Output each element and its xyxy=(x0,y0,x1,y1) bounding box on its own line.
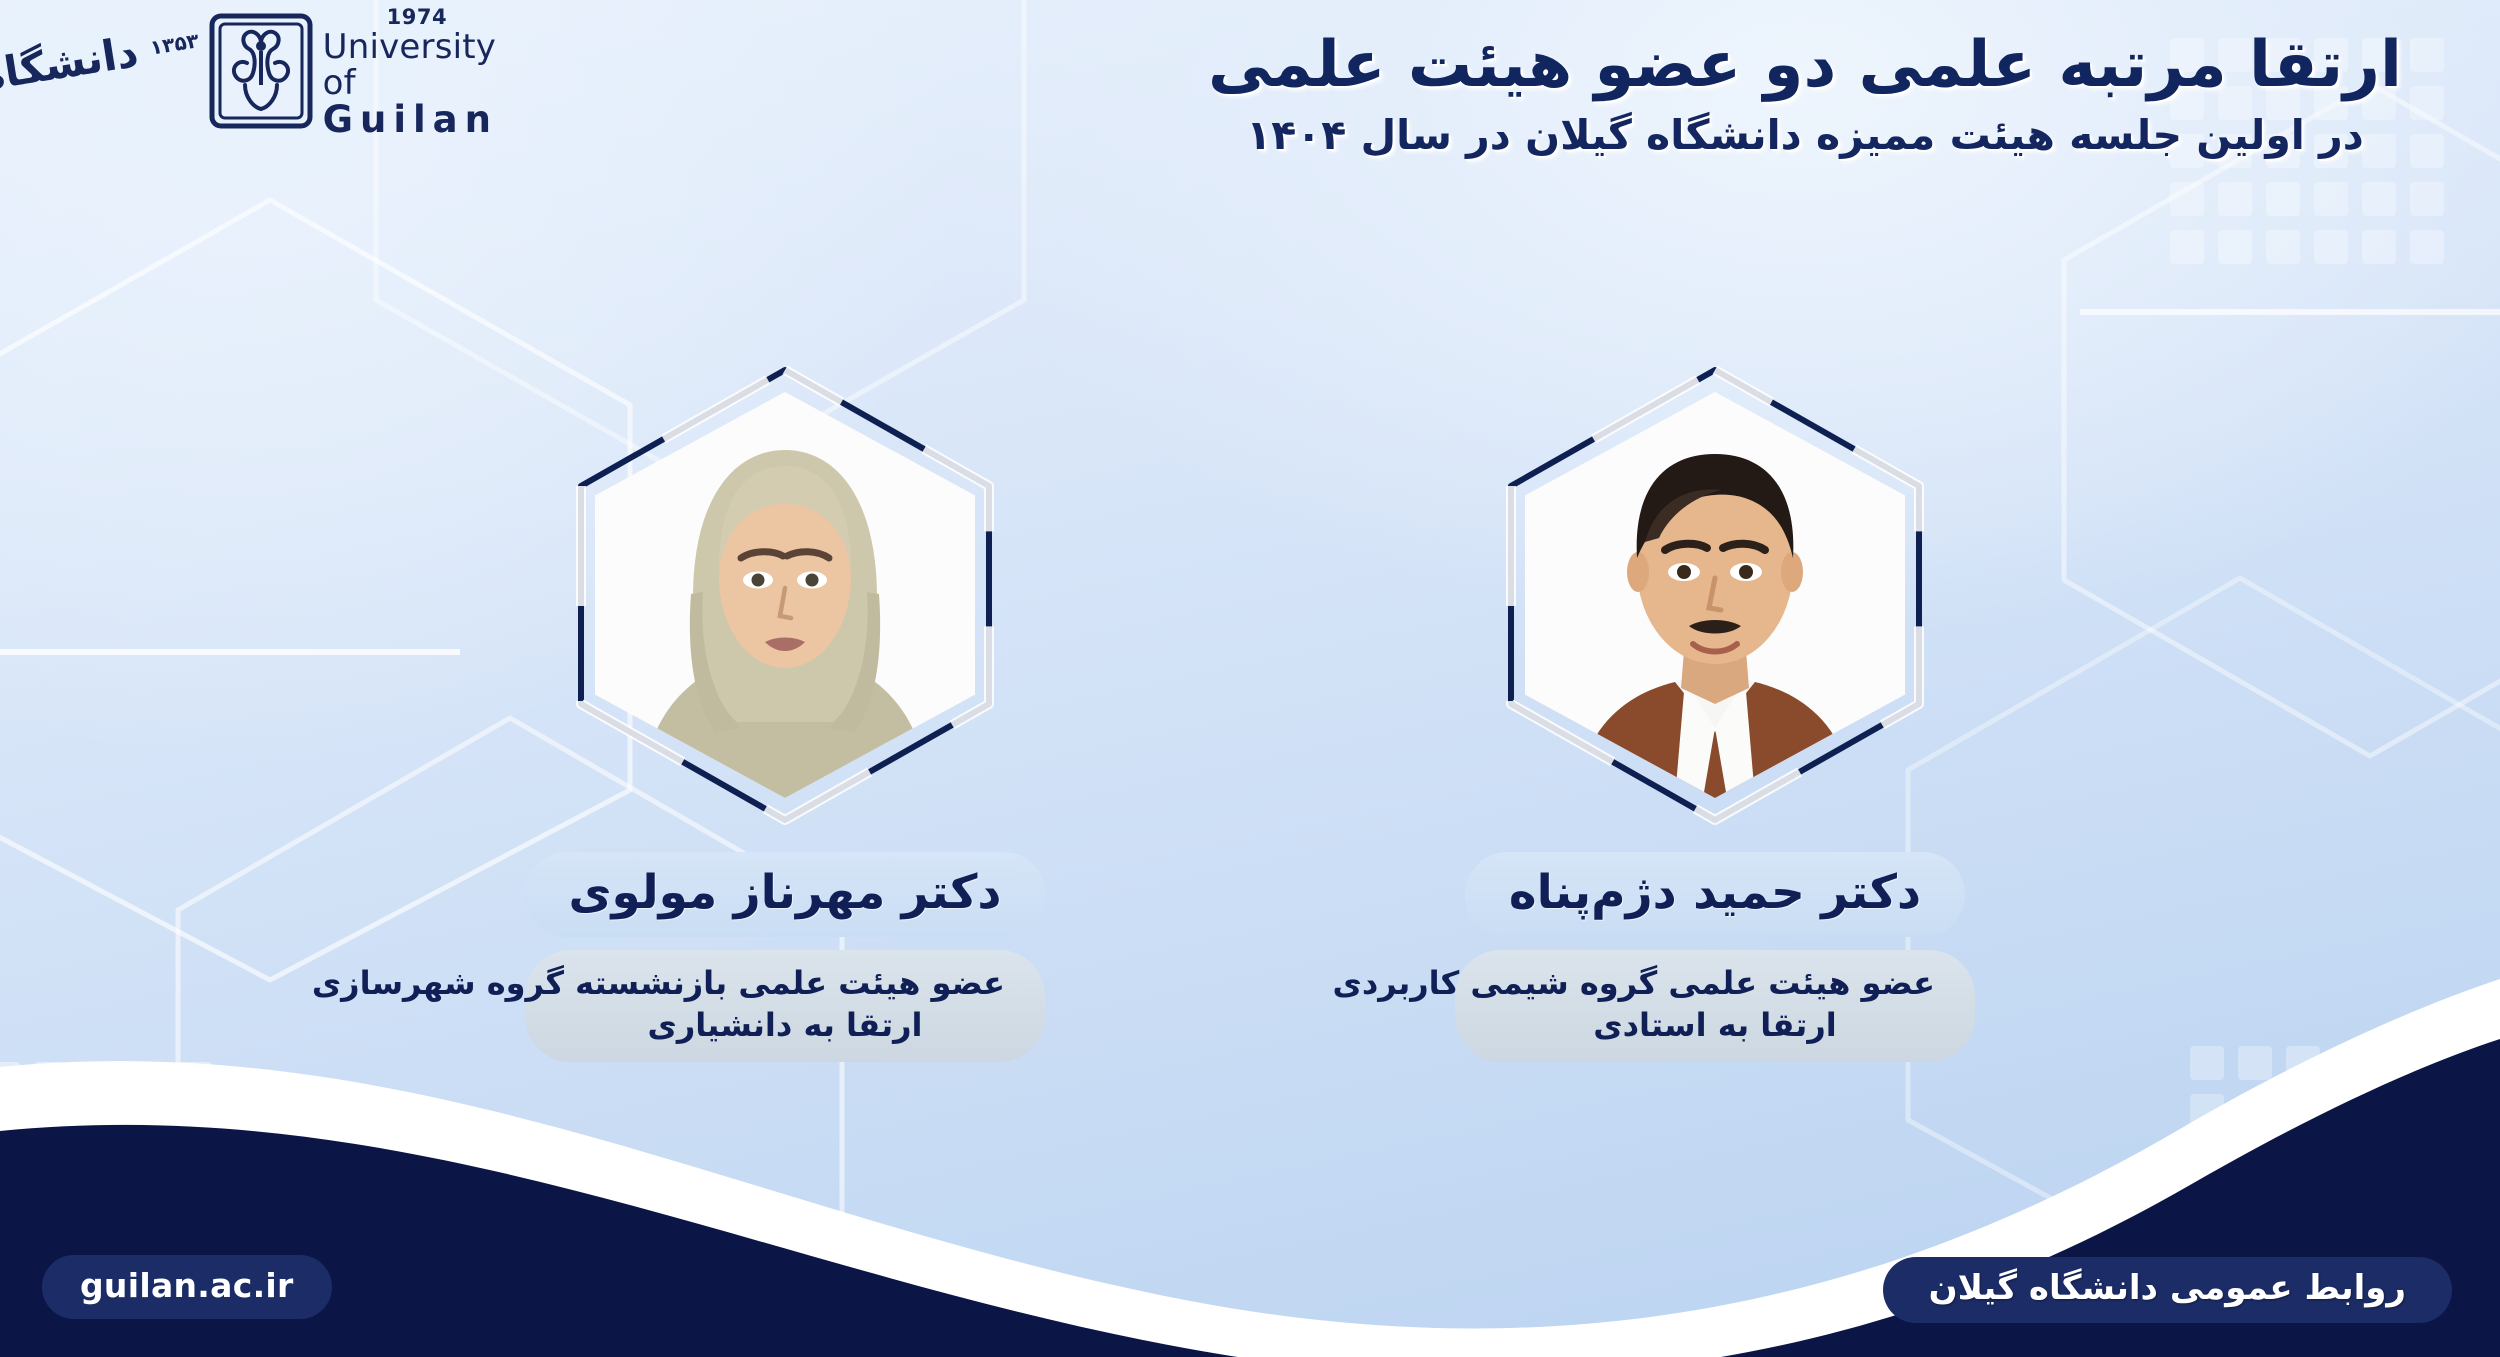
page-subtitle: در اولین جلسه هیئت ممیزه دانشگاه گیلان د… xyxy=(1140,110,2470,161)
guilan-emblem-icon xyxy=(209,13,313,133)
publisher-name: روابط عمومی دانشگاه گیلان xyxy=(1929,1268,2406,1308)
page-title: ارتقا مرتبه علمی دو عضو هیئت علمی xyxy=(1140,28,2470,104)
logo-founding-year-en: 1974 xyxy=(387,6,498,28)
university-logo: 1974 University of Guilan ۱۳۵۳ دانشگاه گ… xyxy=(28,8,498,138)
publisher-badge: روابط عمومی دانشگاه گیلان xyxy=(1883,1257,2452,1323)
logo-english-text: 1974 University of Guilan xyxy=(323,6,498,140)
person-name: دکتر حمید دژم‌پناه xyxy=(1509,865,1921,920)
website-badge[interactable]: guilan.ac.ir xyxy=(42,1255,332,1319)
logo-line1-en: University of xyxy=(323,30,498,101)
person-photo-frame xyxy=(565,360,1005,830)
logo-name-fa: دانشگاه گیلان xyxy=(0,27,142,120)
logo-line2-en: Guilan xyxy=(323,101,498,140)
header-titles: ارتقا مرتبه علمی دو عضو هیئت علمی در اول… xyxy=(1140,28,2470,161)
poster-canvas: 1974 University of Guilan ۱۳۵۳ دانشگاه گ… xyxy=(0,0,2500,1357)
website-url: guilan.ac.ir xyxy=(80,1266,294,1305)
person-photo-frame xyxy=(1495,360,1935,830)
person-name: دکتر مهرناز مولوی xyxy=(568,865,1001,920)
logo-founding-year-fa: ۱۳۵۳ xyxy=(148,28,200,59)
horizontal-line-decor-right xyxy=(2080,300,2500,324)
